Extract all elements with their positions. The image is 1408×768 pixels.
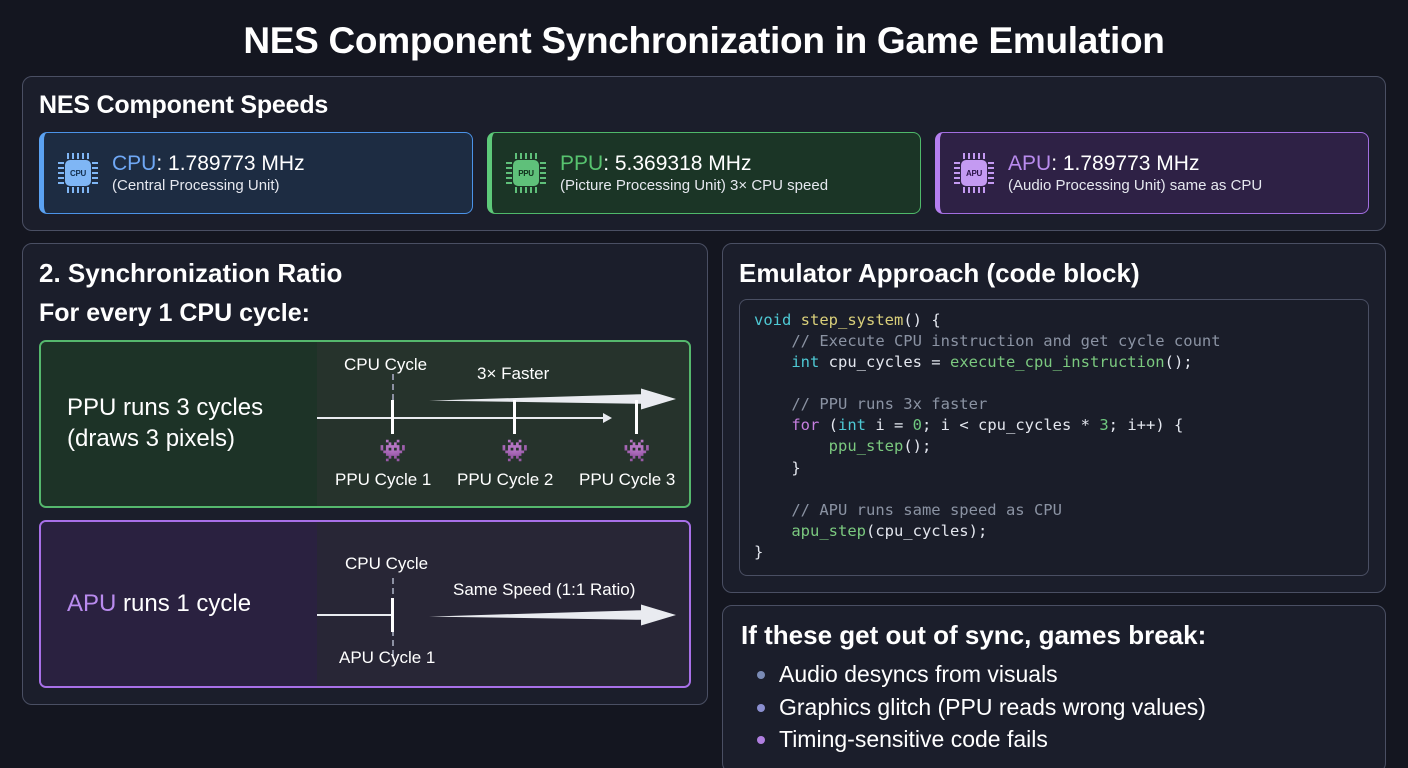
- break-list-item: Graphics glitch (PPU reads wrong values): [755, 691, 1367, 724]
- code-token: [754, 416, 791, 434]
- apu-timeline: CPU Cycle Same Speed (1:1 Ratio) APU Cyc…: [317, 522, 689, 686]
- bullet-icon: [757, 736, 765, 744]
- ppu-tick-2: [513, 400, 516, 434]
- code-token: () {: [903, 311, 940, 329]
- ppu-diagram: PPU runs 3 cycles (draws 3 pixels) CPU C…: [39, 340, 691, 508]
- code-token: (: [819, 416, 838, 434]
- code-token: // Execute CPU instruction and get cycle…: [754, 332, 1221, 350]
- cpu-name: CPU: [112, 152, 156, 175]
- apu-arrow-label: Same Speed (1:1 Ratio): [453, 580, 635, 600]
- code-token: ppu_step: [829, 437, 904, 455]
- component-cards: CPU CPU: 1.789773 MHz (Central Processin…: [39, 132, 1369, 214]
- games-break-heading: If these get out of sync, games break:: [741, 620, 1367, 651]
- infographic-page: NES Component Synchronization in Game Em…: [0, 0, 1408, 768]
- code-token: ();: [1165, 353, 1193, 371]
- code-token: step_system: [801, 311, 904, 329]
- apu-tick-1: [391, 598, 394, 632]
- lower-section: 2. Synchronization Ratio For every 1 CPU…: [22, 243, 1386, 768]
- ppu-value: : 5.369318 MHz: [603, 152, 751, 175]
- apu-card: APU APU: 1.789773 MHz (Audio Processing …: [935, 132, 1369, 214]
- bullet-icon: [757, 704, 765, 712]
- cpu-chip-icon: CPU: [56, 151, 100, 195]
- sync-ratio-panel: 2. Synchronization Ratio For every 1 CPU…: [22, 243, 708, 705]
- ppu-chip-icon: PPU: [504, 151, 548, 195]
- code-token: (cpu_cycles);: [866, 522, 987, 540]
- ppu-diagram-line1: PPU runs 3 cycles: [67, 393, 263, 424]
- apu-chip-label: APU: [961, 160, 987, 186]
- cpu-value: : 1.789773 MHz: [156, 152, 304, 175]
- code-token: 0: [913, 416, 922, 434]
- ppu-card-line1: PPU: 5.369318 MHz: [560, 151, 828, 177]
- code-token: void: [754, 311, 801, 329]
- ppu-card: PPU PPU: 5.369318 MHz (Picture Processin…: [487, 132, 921, 214]
- ppu-diagram-text: PPU runs 3 cycles (draws 3 pixels): [41, 342, 317, 506]
- left-column: 2. Synchronization Ratio For every 1 CPU…: [22, 243, 708, 705]
- ppu-arrow-label: 3× Faster: [477, 364, 549, 384]
- code-token: ();: [903, 437, 931, 455]
- ppu-tick-1: [391, 400, 394, 434]
- code-token: }: [754, 459, 801, 477]
- code-token: // PPU runs 3x faster: [754, 395, 987, 413]
- ppu-cpu-cycle-label: CPU Cycle: [344, 355, 427, 375]
- apu-card-sub: (Audio Processing Unit) same as CPU: [1008, 177, 1262, 196]
- cpu-chip-label: CPU: [65, 160, 91, 186]
- right-column: Emulator Approach (code block) void step…: [722, 243, 1386, 768]
- break-list-item-label: Timing-sensitive code fails: [779, 726, 1048, 752]
- apu-axis-line: [317, 614, 393, 616]
- apu-cycle-label-1: APU Cycle 1: [339, 648, 435, 668]
- code-token: int: [838, 416, 866, 434]
- space-invader-icon: 👾: [501, 440, 528, 462]
- code-token: [754, 353, 791, 371]
- component-speeds-panel: NES Component Speeds CPU CPU: 1.789773 M…: [22, 76, 1386, 231]
- apu-speed-arrow-icon: [429, 604, 677, 626]
- code-token: [754, 374, 763, 392]
- ppu-cycle-label-3: PPU Cycle 3: [579, 470, 675, 490]
- cpu-card-sub: (Central Processing Unit): [112, 177, 305, 196]
- sync-heading: 2. Synchronization Ratio: [39, 258, 691, 289]
- apu-diagram: APU runs 1 cycle CPU Cycle Same Speed (1…: [39, 520, 691, 688]
- apu-value: : 1.789773 MHz: [1051, 152, 1199, 175]
- code-token: 3: [1099, 416, 1108, 434]
- ppu-tick-3: [635, 400, 638, 434]
- ppu-card-sub: (Picture Processing Unit) 3× CPU speed: [560, 177, 828, 196]
- ppu-axis-line: [317, 417, 605, 419]
- code-token: ; i < cpu_cycles *: [922, 416, 1099, 434]
- code-token: cpu_cycles =: [819, 353, 950, 371]
- break-list-item: Audio desyncs from visuals: [755, 658, 1367, 691]
- games-break-list: Audio desyncs from visualsGraphics glitc…: [741, 658, 1367, 756]
- apu-name: APU: [1008, 152, 1051, 175]
- ppu-cpu-dash: [392, 374, 394, 400]
- ppu-axis-arrowhead-icon: [603, 413, 612, 423]
- code-token: [754, 480, 763, 498]
- bullet-icon: [757, 671, 765, 679]
- code-token: int: [791, 353, 819, 371]
- code-token: // APU runs same speed as CPU: [754, 501, 1062, 519]
- cpu-card: CPU CPU: 1.789773 MHz (Central Processin…: [39, 132, 473, 214]
- apu-card-line1: APU: 1.789773 MHz: [1008, 151, 1262, 177]
- code-token: apu_step: [791, 522, 866, 540]
- ppu-speed-arrow-icon: [429, 388, 677, 410]
- code-token: }: [754, 543, 763, 561]
- apu-cpu-cycle-label: CPU Cycle: [345, 554, 428, 574]
- games-break-panel: If these get out of sync, games break: A…: [722, 605, 1386, 768]
- ppu-cycle-label-1: PPU Cycle 1: [335, 470, 431, 490]
- code-token: i =: [866, 416, 913, 434]
- ppu-timeline: CPU Cycle 3× Faster: [317, 342, 689, 506]
- apu-chip-icon: APU: [952, 151, 996, 195]
- code-token: [754, 522, 791, 540]
- break-list-item-label: Audio desyncs from visuals: [779, 661, 1058, 687]
- page-title: NES Component Synchronization in Game Em…: [22, 0, 1386, 76]
- apu-diagram-prefix: APU: [67, 590, 116, 617]
- code-token: execute_cpu_instruction: [950, 353, 1165, 371]
- code-token: [754, 437, 829, 455]
- space-invader-icon: 👾: [623, 440, 650, 462]
- break-list-item-label: Graphics glitch (PPU reads wrong values): [779, 694, 1206, 720]
- ppu-name: PPU: [560, 152, 603, 175]
- component-speeds-heading: NES Component Speeds: [39, 91, 1369, 120]
- code-token: for: [791, 416, 819, 434]
- apu-diagram-rest: runs 1 cycle: [116, 590, 251, 617]
- sync-subheading: For every 1 CPU cycle:: [39, 299, 691, 328]
- ppu-cycle-label-2: PPU Cycle 2: [457, 470, 553, 490]
- apu-diagram-text: APU runs 1 cycle: [41, 522, 317, 686]
- break-list-item: Timing-sensitive code fails: [755, 723, 1367, 756]
- code-token: ; i++) {: [1109, 416, 1184, 434]
- code-block[interactable]: void step_system() { // Execute CPU inst…: [739, 299, 1369, 576]
- space-invader-icon: 👾: [379, 440, 406, 462]
- ppu-diagram-line2: (draws 3 pixels): [67, 424, 263, 455]
- ppu-chip-label: PPU: [513, 160, 539, 186]
- emulator-approach-panel: Emulator Approach (code block) void step…: [722, 243, 1386, 593]
- emulator-heading: Emulator Approach (code block): [739, 258, 1369, 289]
- cpu-card-line1: CPU: 1.789773 MHz: [112, 151, 305, 177]
